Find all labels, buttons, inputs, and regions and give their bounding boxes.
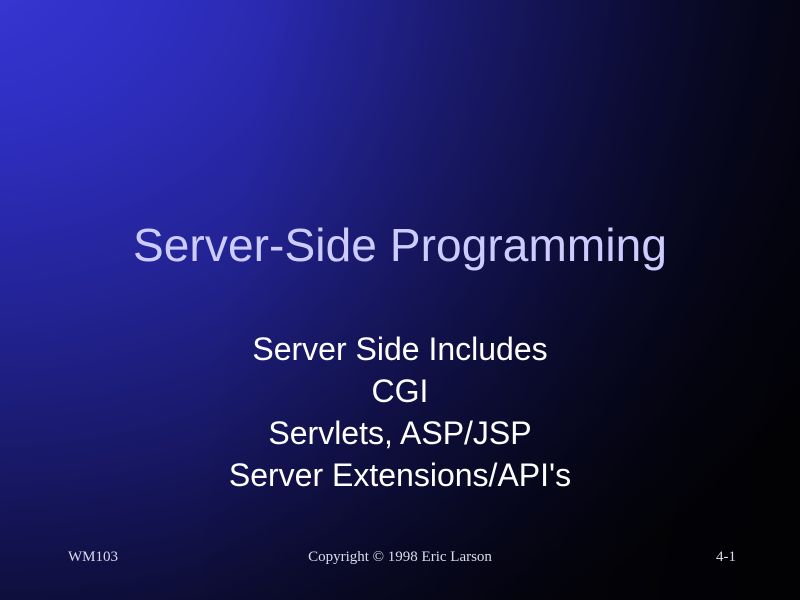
- subtitle-line-1: Server Side Includes: [0, 328, 800, 370]
- footer-copyright: Copyright © 1998 Eric Larson: [0, 549, 800, 566]
- slide-content: Server-Side Programming Server Side Incl…: [0, 0, 800, 600]
- footer-page-number: 4-1: [716, 549, 736, 566]
- subtitle-line-4: Server Extensions/API's: [0, 454, 800, 496]
- subtitle-line-3: Servlets, ASP/JSP: [0, 412, 800, 454]
- subtitle-block: Server Side Includes CGI Servlets, ASP/J…: [0, 328, 800, 496]
- title-block: Server-Side Programming: [0, 222, 800, 268]
- subtitle-line-2: CGI: [0, 370, 800, 412]
- page-title: Server-Side Programming: [0, 222, 800, 268]
- slide: Server-Side Programming Server Side Incl…: [0, 0, 800, 600]
- slide-footer: WM103 Copyright © 1998 Eric Larson 4-1: [0, 549, 800, 571]
